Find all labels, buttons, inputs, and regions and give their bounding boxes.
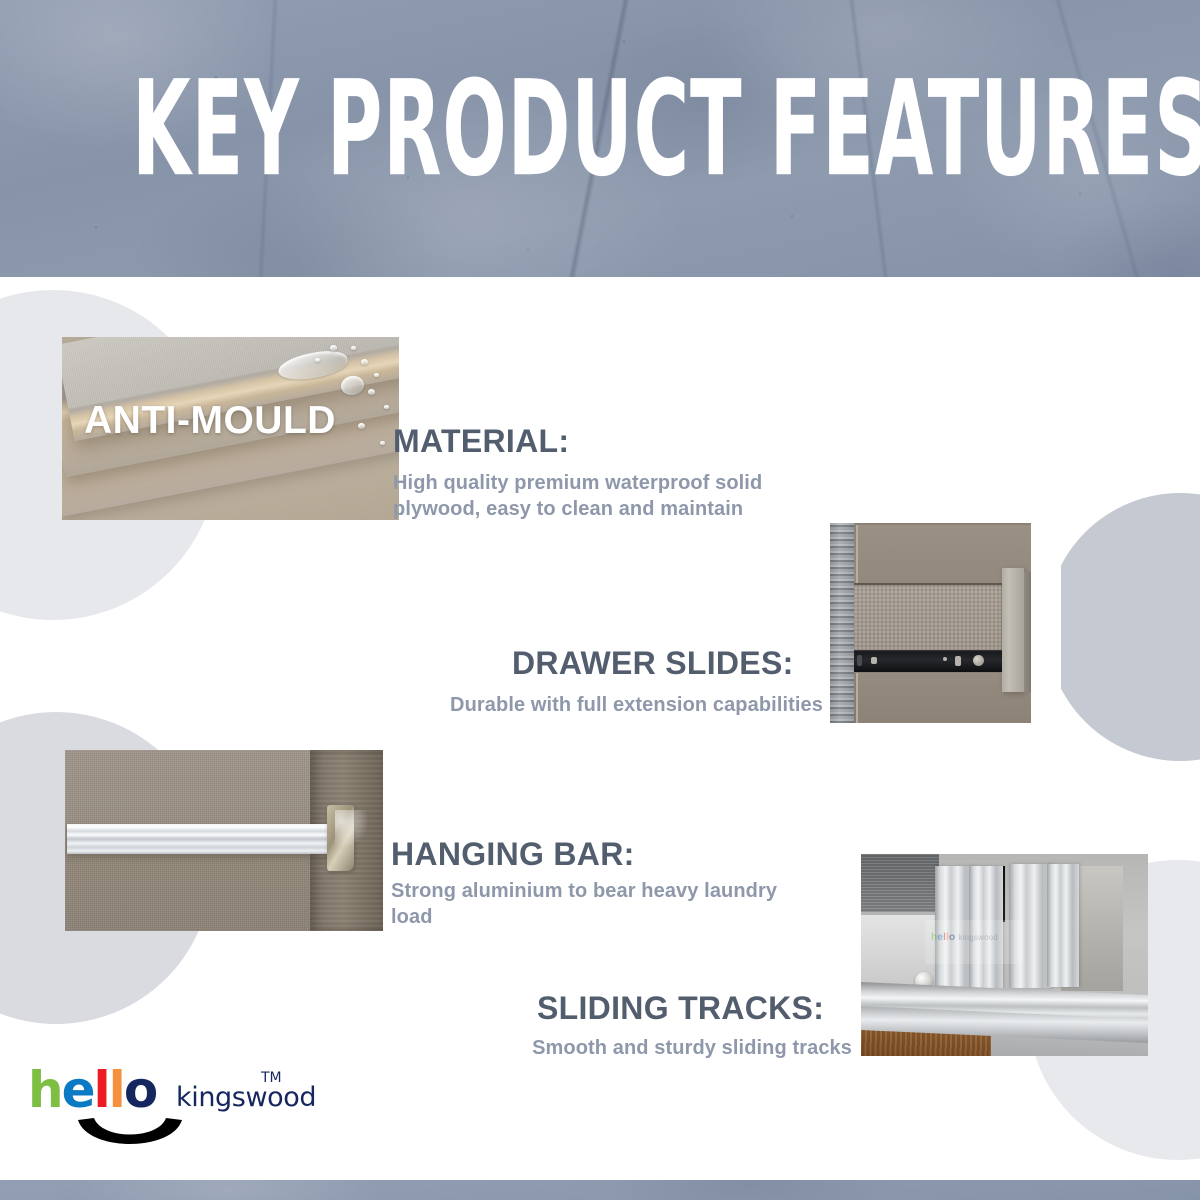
photo-drawer-slides — [830, 523, 1061, 723]
brand-logo[interactable]: hello kingswood TM — [28, 1068, 308, 1160]
logo-smile-icon — [74, 1116, 186, 1158]
key-product-features-infographic: KEY PRODUCT FEATURES ANTI-MOULD MATERIAL… — [0, 0, 1200, 1200]
logo-hello-wordmark: hello — [28, 1068, 156, 1112]
photo-anti-mould-plywood: ANTI-MOULD — [62, 337, 399, 520]
cabinet-edge-woodgrain — [830, 523, 854, 723]
water-droplet-small — [380, 441, 385, 445]
rail-slot — [857, 655, 862, 666]
sliding-door-profile — [935, 866, 973, 988]
photo-hanging-bar — [65, 750, 383, 931]
water-droplet-small — [330, 345, 337, 351]
footer-banner — [0, 1180, 1200, 1200]
feature-description-sliding-tracks: Smooth and sturdy sliding tracks — [380, 1035, 852, 1061]
drawer-photo-white-space — [1031, 523, 1061, 723]
logo-letter-o: o — [124, 1068, 156, 1112]
sliding-dark-upper-panel — [861, 854, 939, 916]
page-title: KEY PRODUCT FEATURES — [132, 62, 1068, 199]
rail-rivet — [955, 656, 961, 666]
drawer-front-edge — [1024, 572, 1031, 692]
water-droplet-small — [351, 346, 356, 350]
header-banner: KEY PRODUCT FEATURES — [0, 0, 1200, 277]
water-droplet-small — [374, 373, 379, 377]
rail-screw — [973, 655, 984, 666]
feature-description-hanging-bar: Strong aluminium to bear heavy laundry l… — [391, 878, 791, 930]
drawer-front-panel — [1002, 568, 1024, 692]
decor-circle-drawer-slides — [1046, 493, 1200, 761]
sliding-door-profile — [969, 866, 1003, 989]
rail-rivet — [871, 657, 877, 664]
feature-title-sliding-tracks: SLIDING TRACKS: — [537, 990, 824, 1027]
drawer-box-side — [851, 583, 1004, 653]
feature-title-drawer-slides: DRAWER SLIDES: — [512, 645, 794, 682]
photo-sliding-tracks: hello kingswood — [861, 854, 1148, 1056]
logo-letter-l-orange: l — [109, 1068, 124, 1112]
rail-rivet — [943, 657, 947, 661]
feature-description-drawer-slides: Durable with full extension capabilities — [333, 692, 823, 718]
sliding-door-profile — [1047, 864, 1079, 987]
sliding-door-profile — [1009, 864, 1051, 988]
logo-letter-e: e — [62, 1068, 94, 1112]
feature-description-material: High quality premium waterproof solid pl… — [393, 470, 823, 522]
water-droplet-small — [368, 389, 375, 395]
water-droplet-small — [315, 358, 320, 362]
feature-title-hanging-bar: HANGING BAR: — [391, 836, 635, 873]
drawer-slide-rail — [851, 650, 1006, 672]
logo-trademark-symbol: TM — [261, 1070, 282, 1086]
water-droplet-small — [358, 423, 365, 429]
logo-letter-h: h — [28, 1068, 62, 1112]
logo-letter-l-red: l — [94, 1068, 109, 1112]
feature-title-material: MATERIAL: — [393, 423, 569, 460]
aluminium-hanging-bar — [67, 824, 343, 854]
anti-mould-overlay-label: ANTI-MOULD — [84, 399, 336, 443]
logo-brand-name: kingswood — [176, 1082, 316, 1113]
footer-concrete-texture — [0, 1180, 1200, 1200]
water-droplet-small — [384, 405, 389, 409]
water-droplet-small — [361, 359, 368, 365]
bracket-light-gleam — [335, 810, 369, 848]
